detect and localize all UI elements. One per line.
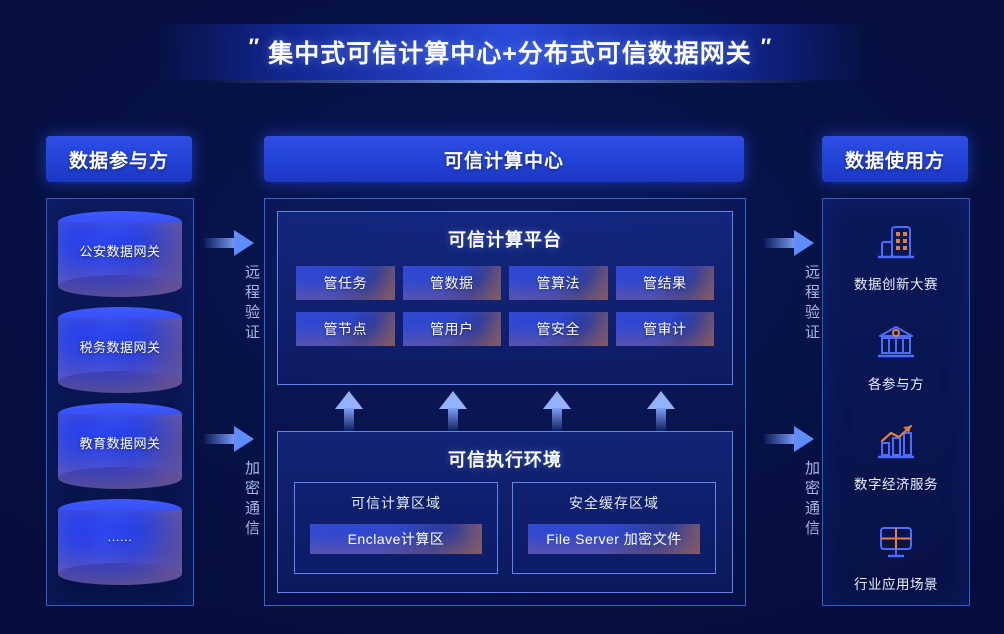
capability-button-manage-data[interactable]: 管数据 — [403, 266, 502, 300]
arrow-shaft — [204, 238, 237, 248]
zone-trusted-compute-title: 可信计算区域 — [351, 493, 441, 513]
arrow-head — [439, 391, 467, 409]
arrow-shaft — [448, 408, 458, 431]
center-column-header-label: 可信计算中心 — [444, 146, 564, 173]
capability-button-manage-task[interactable]: 管任务 — [296, 266, 395, 300]
arrow-up-icon — [439, 391, 467, 431]
monitor-grid-icon — [823, 515, 969, 569]
database-node-label: ...... — [58, 529, 182, 544]
left-column-header: 数据参与方 — [46, 136, 192, 182]
consumer-item-participants[interactable]: 各参与方 — [823, 315, 969, 393]
cylinder-bottom-icon — [58, 275, 182, 297]
consumer-item-innovation-contest[interactable]: 数据创新大赛 — [823, 215, 969, 293]
trusted-execution-environment-card: 可信执行环境 可信计算区域 Enclave计算区 安全缓存区域 File Ser… — [277, 431, 733, 593]
capability-button-manage-node[interactable]: 管节点 — [296, 312, 395, 346]
database-node[interactable]: ...... — [58, 499, 182, 585]
office-building-icon — [823, 215, 969, 269]
arrow-up-icon — [647, 391, 675, 431]
infographic-canvas: ″ 集中式可信计算中心+分布式可信数据网关 ″ 数据参与方 可信计算中心 数据使… — [0, 0, 1004, 634]
zone-secure-cache: 安全缓存区域 File Server 加密文件 — [512, 482, 716, 574]
arrow-right-icon — [204, 230, 254, 256]
right-column-header-label: 数据使用方 — [845, 146, 945, 173]
right-column-header: 数据使用方 — [822, 136, 968, 182]
database-node[interactable]: 税务数据网关 — [58, 307, 182, 393]
arrow-shaft — [656, 408, 666, 431]
capability-button-manage-algo[interactable]: 管算法 — [509, 266, 608, 300]
platform-capability-grid: 管任务 管数据 管算法 管结果 管节点 管用户 管安全 管审计 — [296, 266, 714, 346]
right-flow-label-encrypted-comm: 加密通信 — [756, 460, 822, 540]
arrow-head — [647, 391, 675, 409]
database-node[interactable]: 教育数据网关 — [58, 403, 182, 489]
center-column-header: 可信计算中心 — [264, 136, 744, 182]
capability-button-manage-audit[interactable]: 管审计 — [616, 312, 715, 346]
tee-title: 可信执行环境 — [278, 446, 732, 472]
trusted-computing-platform-card: 可信计算平台 管任务 管数据 管算法 管结果 管节点 管用户 管安全 管审计 — [277, 211, 733, 385]
arrow-shaft — [204, 434, 237, 444]
cylinder-bottom-icon — [58, 371, 182, 393]
tee-zone-row: 可信计算区域 Enclave计算区 安全缓存区域 File Server 加密文… — [294, 482, 716, 574]
bank-institution-icon — [823, 315, 969, 369]
zone-trusted-compute-chip[interactable]: Enclave计算区 — [310, 524, 482, 554]
consumer-item-label: 数据创新大赛 — [823, 273, 969, 293]
consumer-item-label: 数字经济服务 — [823, 473, 969, 493]
open-quote-mark: ″ — [240, 34, 269, 60]
arrow-right-icon — [204, 426, 254, 452]
arrow-shaft — [764, 434, 797, 444]
capability-button-manage-result[interactable]: 管结果 — [616, 266, 715, 300]
right-flow-column: 远程验证 加密通信 — [756, 198, 822, 604]
zone-secure-cache-title: 安全缓存区域 — [569, 493, 659, 513]
arrow-head — [234, 230, 254, 256]
data-consumers-panel: 数据创新大赛 各参与方 — [822, 198, 970, 606]
database-node[interactable]: 公安数据网关 — [58, 211, 182, 297]
arrow-head — [234, 426, 254, 452]
arrow-head — [543, 391, 571, 409]
capability-button-manage-user[interactable]: 管用户 — [403, 312, 502, 346]
arrow-up-icon — [543, 391, 571, 431]
zone-trusted-compute: 可信计算区域 Enclave计算区 — [294, 482, 498, 574]
right-flow-label-remote-attestation: 远程验证 — [756, 264, 822, 344]
page-title-banner: ″ 集中式可信计算中心+分布式可信数据网关 ″ — [160, 24, 860, 80]
database-node-label: 税务数据网关 — [58, 337, 182, 356]
growth-bar-chart-icon — [823, 415, 969, 469]
close-quote-mark: ″ — [752, 34, 781, 60]
cylinder-bottom-icon — [58, 563, 182, 585]
arrow-right-icon — [764, 230, 814, 256]
arrow-up-icon — [335, 391, 363, 431]
database-node-label: 教育数据网关 — [58, 433, 182, 452]
capability-button-manage-security[interactable]: 管安全 — [509, 312, 608, 346]
consumer-item-digital-economy[interactable]: 数字经济服务 — [823, 415, 969, 493]
cylinder-bottom-icon — [58, 467, 182, 489]
left-flow-label-encrypted-comm: 加密通信 — [196, 460, 262, 540]
arrow-shaft — [344, 408, 354, 431]
arrow-shaft — [552, 408, 562, 431]
zone-secure-cache-chip[interactable]: File Server 加密文件 — [528, 524, 700, 554]
left-flow-label-remote-attestation: 远程验证 — [196, 264, 262, 344]
arrow-head — [335, 391, 363, 409]
arrow-shaft — [764, 238, 797, 248]
left-flow-column: 远程验证 加密通信 — [196, 198, 262, 604]
database-node-label: 公安数据网关 — [58, 241, 182, 260]
consumer-item-label: 行业应用场景 — [823, 573, 969, 593]
arrow-head — [794, 426, 814, 452]
trusted-computing-center-panel: 可信计算平台 管任务 管数据 管算法 管结果 管节点 管用户 管安全 管审计 — [264, 198, 746, 606]
arrow-right-icon — [764, 426, 814, 452]
page-title: 集中式可信计算中心+分布式可信数据网关 — [268, 34, 752, 70]
data-providers-panel: 公安数据网关 税务数据网关 教育数据网关 ...... — [46, 198, 194, 606]
consumer-item-label: 各参与方 — [823, 373, 969, 393]
left-column-header-label: 数据参与方 — [69, 146, 169, 173]
consumer-item-industry-scenarios[interactable]: 行业应用场景 — [823, 515, 969, 593]
platform-title: 可信计算平台 — [278, 226, 732, 252]
arrow-head — [794, 230, 814, 256]
